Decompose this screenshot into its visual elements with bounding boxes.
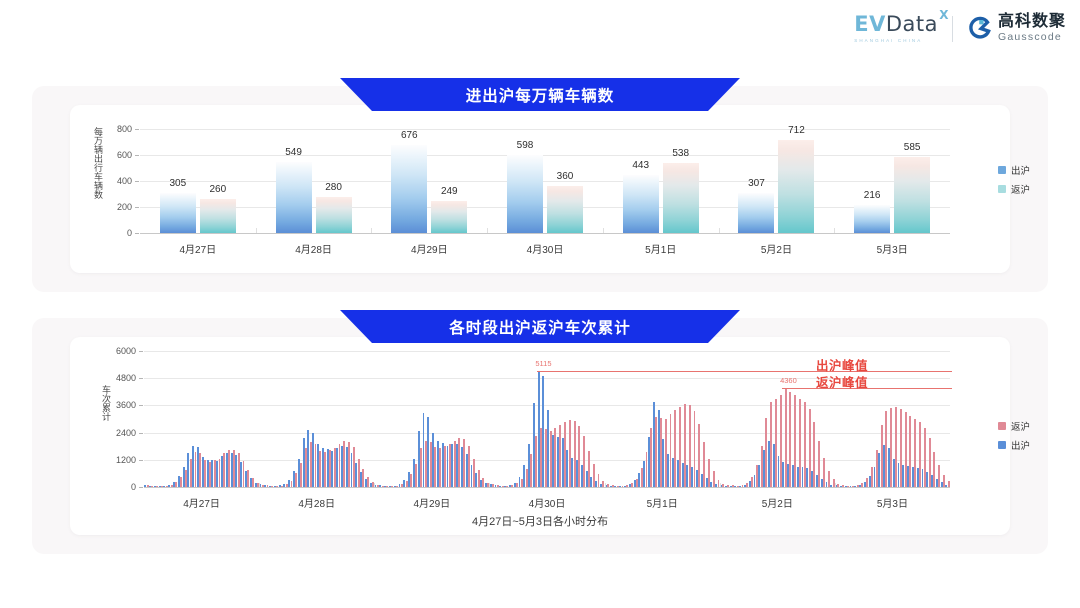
chart-1-ytick-200: 200 <box>102 202 132 212</box>
panel-2-card: 车次累计0120024003600480060004月27日4月28日4月29日… <box>70 337 1010 535</box>
chart-2-annotation-value-出沪峰值: 5115 <box>535 359 551 368</box>
chart-2-annotation-value-返沪峰值: 4360 <box>780 376 797 385</box>
chart-1-cat-separator-5 <box>719 228 720 233</box>
gausscode-mark-icon <box>967 16 992 41</box>
chart-2-legend-label-1: 出沪 <box>1011 438 1030 452</box>
chart-1-bar-返沪-4月28日 <box>316 197 352 233</box>
chart-1-bar-label-返沪-4月27日: 260 <box>210 184 227 195</box>
chart-1-legend: 出沪返沪 <box>998 163 1030 196</box>
chart-1-gridline-400 <box>140 181 950 182</box>
evdata-tagline: SHANGHAI CHINA <box>854 38 922 43</box>
chart-1-ytick-600: 600 <box>102 150 132 160</box>
chart-2-xtick-5月1日: 5月1日 <box>647 495 678 510</box>
chart-1-bar-label-出沪-5月1日: 443 <box>632 160 649 171</box>
chart-2-ytick-mark-1200 <box>139 460 143 461</box>
logo-group: EVDataX SHANGHAI CHINA 高科数聚 Gausscode <box>854 14 1066 43</box>
chart-2-gridline-6000 <box>144 351 950 352</box>
evdata-data-text: Data <box>886 12 938 36</box>
chart-1-bar-返沪-5月2日 <box>778 140 814 233</box>
chart-1-cat-separator-4 <box>603 228 604 233</box>
evdata-logo: EVDataX SHANGHAI CHINA <box>854 14 938 43</box>
chart-1-bar-出沪-5月2日 <box>738 193 774 233</box>
chart-1-legend-label-0: 出沪 <box>1011 163 1030 177</box>
chart-1-gridline-200 <box>140 207 950 208</box>
chart-2-ytick-mark-6000 <box>139 351 143 352</box>
chart-1-xtick-4月29日: 4月29日 <box>411 241 448 256</box>
chart-1-cat-separator-3 <box>487 228 488 233</box>
chart-1-legend-swatch-0 <box>998 166 1006 174</box>
panel-1-title: 进出沪每万辆车辆数 <box>466 84 615 106</box>
chart-1-bar-返沪-4月27日 <box>200 199 236 233</box>
chart-1-bar-label-出沪-5月3日: 216 <box>864 190 881 201</box>
chart-2-legend-item-0: 返沪 <box>998 419 1030 433</box>
chart-2-legend: 返沪出沪 <box>998 419 1030 452</box>
chart-1-bar-返沪-4月30日 <box>547 186 583 233</box>
chart-1-bar-返沪-5月1日 <box>663 163 699 233</box>
chart-1-gridline-0 <box>140 233 950 234</box>
chart-2-ytick-0: 0 <box>102 482 136 492</box>
chart-1-gridline-800 <box>140 129 950 130</box>
chart-1-bar-label-出沪-5月2日: 307 <box>748 178 765 189</box>
chart-1-legend-swatch-1 <box>998 185 1006 193</box>
chart-1-xtick-5月3日: 5月3日 <box>877 241 908 256</box>
chart-2-xtick-5月2日: 5月2日 <box>762 495 793 510</box>
panel-1-card: 每万辆出行车辆数02004006008003052604月27日5492804月… <box>70 105 1010 273</box>
chart-2-gridline-3600 <box>144 405 950 406</box>
chart-1-bar-label-返沪-4月28日: 280 <box>325 182 342 193</box>
chart-1-cat-separator-1 <box>256 228 257 233</box>
chart-2-ytick-mark-0 <box>139 487 143 488</box>
chart-2-legend-swatch-0 <box>998 422 1006 430</box>
panel-2-title-ribbon: 各时段出沪返沪车次累计 <box>340 310 740 343</box>
chart-2-bar-back-167 <box>948 481 950 487</box>
chart-2-legend-swatch-1 <box>998 441 1006 449</box>
panel-1-title-ribbon: 进出沪每万辆车辆数 <box>340 78 740 111</box>
chart-1-legend-item-1: 返沪 <box>998 182 1030 196</box>
chart-2-ytick-mark-2400 <box>139 433 143 434</box>
gausscode-cn-name: 高科数聚 <box>998 14 1066 30</box>
chart-2-annotation-label-返沪峰值: 返沪峰值 <box>816 372 868 391</box>
gausscode-logo: 高科数聚 Gausscode <box>967 14 1066 43</box>
bar-chart-hourly: 车次累计0120024003600480060004月27日4月28日4月29日… <box>70 337 1010 535</box>
page-header: EVDataX SHANGHAI CHINA 高科数聚 Gausscode <box>0 0 1080 62</box>
chart-2-ytick-2400: 2400 <box>102 428 136 438</box>
chart-1-cat-separator-2 <box>371 228 372 233</box>
chart-2-legend-label-0: 返沪 <box>1011 419 1030 433</box>
chart-2-cat-separator-5 <box>720 483 721 487</box>
chart-2-ytick-6000: 6000 <box>102 346 136 356</box>
chart-1-bar-label-返沪-5月3日: 585 <box>904 142 921 153</box>
chart-2-ytick-3600: 3600 <box>102 400 136 410</box>
chart-1-cat-separator-6 <box>834 228 835 233</box>
chart-1-bar-label-返沪-4月29日: 249 <box>441 186 458 197</box>
chart-2-cat-separator-6 <box>835 483 836 487</box>
chart-2-xtick-4月27日: 4月27日 <box>183 495 220 510</box>
chart-1-xtick-4月30日: 4月30日 <box>527 241 564 256</box>
chart-2-annotation-line-出沪峰值 <box>537 371 952 372</box>
chart-1-bar-出沪-4月30日 <box>507 155 543 233</box>
chart-2-legend-item-1: 出沪 <box>998 438 1030 452</box>
logo-divider <box>952 16 953 42</box>
chart-1-bar-出沪-4月28日 <box>276 162 312 233</box>
chart-1-bar-出沪-4月27日 <box>160 193 196 233</box>
chart-1-gridline-600 <box>140 155 950 156</box>
chart-2-xtick-5月3日: 5月3日 <box>877 495 908 510</box>
chart-1-bar-出沪-5月3日 <box>854 205 890 233</box>
chart-2-subtitle: 4月27日~5月3日各小时分布 <box>472 513 608 529</box>
panel-2-title: 各时段出沪返沪车次累计 <box>449 316 631 338</box>
chart-1-bar-返沪-5月3日 <box>894 157 930 233</box>
chart-1-bar-出沪-4月29日 <box>391 145 427 233</box>
gausscode-en-name: Gausscode <box>998 32 1066 43</box>
chart-2-xtick-4月28日: 4月28日 <box>298 495 335 510</box>
chart-1-bar-label-返沪-4月30日: 360 <box>557 171 574 182</box>
chart-1-bar-label-出沪-4月29日: 676 <box>401 130 418 141</box>
chart-2-ytick-mark-3600 <box>139 405 143 406</box>
chart-2-ytick-mark-4800 <box>139 378 143 379</box>
chart-2-gridline-0 <box>144 487 950 488</box>
panel-hourly-trips: 各时段出沪返沪车次累计 车次累计0120024003600480060004月2… <box>32 318 1048 554</box>
chart-2-cat-separator-2 <box>374 483 375 487</box>
chart-2-cat-separator-1 <box>259 483 260 487</box>
chart-1-xtick-4月27日: 4月27日 <box>180 241 217 256</box>
chart-2-ytick-1200: 1200 <box>102 455 136 465</box>
chart-1-legend-item-0: 出沪 <box>998 163 1030 177</box>
chart-1-ytick-mark-400 <box>135 181 139 182</box>
chart-1-ytick-mark-200 <box>135 207 139 208</box>
chart-1-bar-label-出沪-4月27日: 305 <box>170 178 187 189</box>
chart-2-xtick-4月29日: 4月29日 <box>414 495 451 510</box>
chart-1-xtick-4月28日: 4月28日 <box>295 241 332 256</box>
chart-2-xtick-4月30日: 4月30日 <box>529 495 566 510</box>
chart-2-cat-separator-4 <box>605 483 606 487</box>
chart-1-bar-label-返沪-5月2日: 712 <box>788 125 805 136</box>
chart-1-ytick-mark-0 <box>135 233 139 234</box>
chart-1-bar-label-出沪-4月28日: 549 <box>285 147 302 158</box>
chart-1-xtick-5月2日: 5月2日 <box>761 241 792 256</box>
evdata-ev-text: EV <box>854 12 886 36</box>
gausscode-text: 高科数聚 Gausscode <box>998 14 1066 43</box>
evdata-x-superscript: X <box>939 9 949 21</box>
chart-1-ytick-400: 400 <box>102 176 132 186</box>
bar-chart-vehicles: 每万辆出行车辆数02004006008003052604月27日5492804月… <box>70 105 1010 273</box>
chart-2-ytick-4800: 4800 <box>102 373 136 383</box>
chart-1-ytick-mark-600 <box>135 155 139 156</box>
chart-1-ytick-800: 800 <box>102 124 132 134</box>
chart-1-bar-label-出沪-4月30日: 598 <box>517 140 534 151</box>
chart-1-xtick-5月1日: 5月1日 <box>645 241 676 256</box>
chart-1-bar-label-返沪-5月1日: 538 <box>672 148 689 159</box>
panel-vehicles-per-10k: 进出沪每万辆车辆数 每万辆出行车辆数02004006008003052604月2… <box>32 86 1048 292</box>
chart-1-ytick-0: 0 <box>102 228 132 238</box>
chart-1-legend-label-1: 返沪 <box>1011 182 1030 196</box>
chart-1-bar-出沪-5月1日 <box>623 175 659 233</box>
chart-1-bar-返沪-4月29日 <box>431 201 467 233</box>
chart-2-cat-separator-3 <box>489 483 490 487</box>
evdata-wordmark: EVDataX <box>854 14 938 35</box>
chart-1-ytick-mark-800 <box>135 129 139 130</box>
